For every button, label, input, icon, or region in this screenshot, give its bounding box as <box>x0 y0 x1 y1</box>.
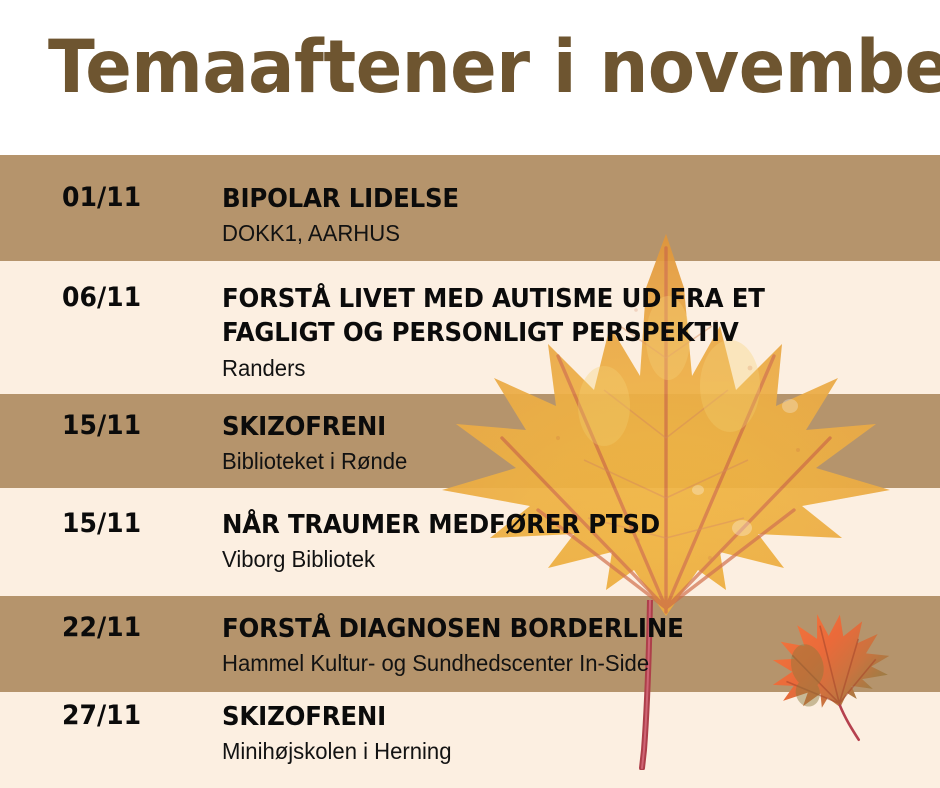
event-title: FORSTÅ DIAGNOSEN BORDERLINE <box>222 612 878 646</box>
event-venue: Viborg Bibliotek <box>222 545 892 575</box>
heading-area: Temaaftener i november <box>0 0 940 155</box>
event-body: FORSTÅ DIAGNOSEN BORDERLINE Hammel Kultu… <box>222 612 920 679</box>
event-date: 22/11 <box>62 612 141 643</box>
event-venue: DOKK1, AARHUS <box>222 219 892 249</box>
event-body: SKIZOFRENI Biblioteket i Rønde <box>222 410 920 477</box>
page-title: Temaaftener i november <box>48 26 940 110</box>
event-title: BIPOLAR LIDELSE <box>222 182 878 216</box>
event-title: SKIZOFRENI <box>222 410 878 444</box>
event-venue: Hammel Kultur- og Sundhedscenter In-Side <box>222 649 892 679</box>
event-title: SKIZOFRENI <box>222 700 878 734</box>
event-body: SKIZOFRENI Minihøjskolen i Herning <box>222 700 920 767</box>
event-venue: Minihøjskolen i Herning <box>222 737 892 767</box>
event-date: 01/11 <box>62 182 141 213</box>
event-date: 27/11 <box>62 700 141 731</box>
event-body: NÅR TRAUMER MEDFØRER PTSD Viborg Bibliot… <box>222 508 920 575</box>
event-body: BIPOLAR LIDELSE DOKK1, AARHUS <box>222 182 920 249</box>
event-date: 15/11 <box>62 508 141 539</box>
event-body: FORSTÅ LIVET MED AUTISME UD FRA ET FAGLI… <box>222 282 920 384</box>
event-title: NÅR TRAUMER MEDFØRER PTSD <box>222 508 878 542</box>
event-date: 06/11 <box>62 282 141 313</box>
event-venue: Biblioteket i Rønde <box>222 447 892 477</box>
poster: Temaaftener i november 01/11 BIPOLAR LID… <box>0 0 940 788</box>
event-title: FORSTÅ LIVET MED AUTISME UD FRA ET FAGLI… <box>222 282 878 351</box>
event-venue: Randers <box>222 354 892 384</box>
event-date: 15/11 <box>62 410 141 441</box>
